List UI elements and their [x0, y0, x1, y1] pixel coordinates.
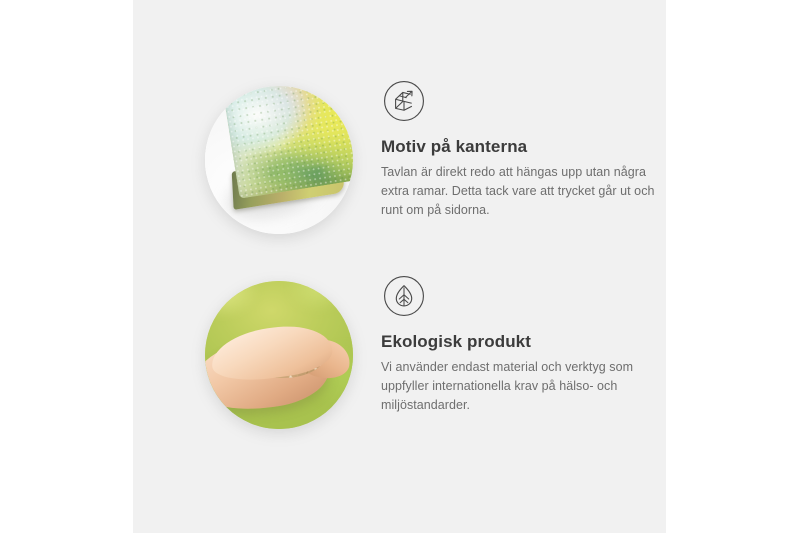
product-info-panel: Motiv på kanterna Tavlan är direkt redo … — [0, 0, 800, 533]
leaf-icon — [383, 275, 425, 317]
feature-description-eco: Vi använder endast material och verktyg … — [381, 358, 659, 415]
wood-chips-hands-photo — [205, 281, 353, 429]
feature-text-eco: Ekologisk produkt Vi använder endast mat… — [381, 275, 659, 415]
feature-description-edges: Tavlan är direkt redo att hängas upp uta… — [381, 163, 659, 220]
canvas-print-illustration — [205, 86, 353, 234]
feature-text-edges: Motiv på kanterna Tavlan är direkt redo … — [381, 80, 659, 220]
wood-chips-photo-wrapper — [199, 275, 359, 435]
wrapped-canvas-edge-icon — [383, 80, 425, 122]
feature-title-eco: Ekologisk produkt — [381, 331, 659, 352]
content-panel: Motiv på kanterna Tavlan är direkt redo … — [133, 0, 666, 533]
feature-list: Motiv på kanterna Tavlan är direkt redo … — [133, 0, 666, 533]
wood-chips-illustration — [205, 281, 353, 429]
canvas-print-photo — [205, 86, 353, 234]
canvas-print-photo-wrapper — [199, 80, 359, 240]
feature-title-edges: Motiv på kanterna — [381, 136, 659, 157]
canvas-texture-overlay — [222, 86, 353, 199]
